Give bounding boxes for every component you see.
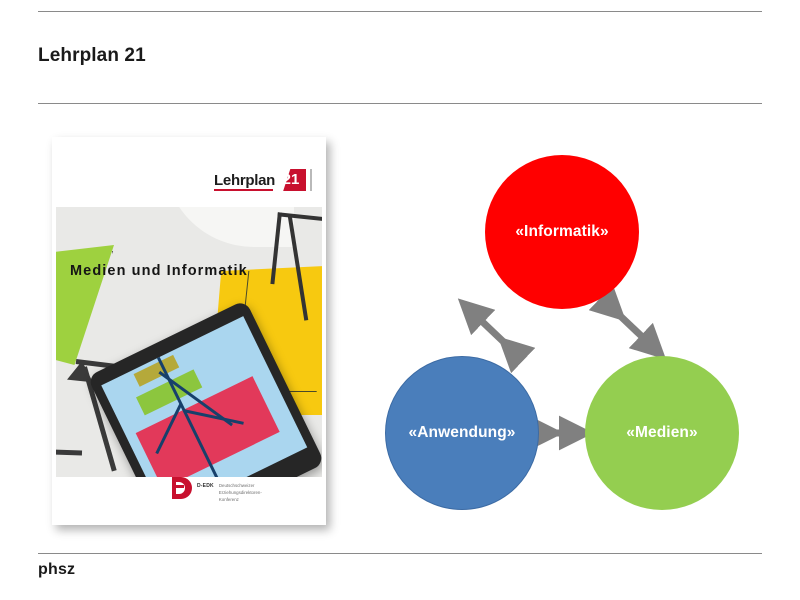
photo-arrow-foot (56, 450, 82, 456)
publisher-line-2: Erziehungsdirektoren- (219, 490, 262, 495)
top-divider (38, 11, 762, 12)
footer-brand: phsz (38, 561, 75, 579)
arrow-informatik-medien (614, 310, 654, 348)
footer-divider (38, 553, 762, 554)
arrow-anwendung-informatik (470, 310, 510, 348)
node-medien[interactable]: «Medien» (585, 356, 739, 510)
node-anwendung-label: «Anwendung» (408, 424, 515, 442)
logo-number-badge: 21 (276, 169, 306, 191)
publisher-abbreviation: D-EDK (197, 477, 214, 489)
logo-divider-bar (310, 169, 312, 191)
logo-wordmark: Lehrplan (214, 173, 275, 191)
publisher-line-1: Deutschschweizer (219, 483, 255, 488)
node-informatik[interactable]: «Informatik» (485, 155, 639, 309)
title-divider (38, 103, 762, 104)
cover-photograph (56, 207, 322, 477)
concept-diagram: «Informatik» «Anwendung» «Medien» (370, 140, 770, 540)
publisher-logo: D-EDK Deutschschweizer Erziehungsdirekto… (172, 477, 262, 503)
d-edk-mark-icon (172, 477, 192, 499)
node-anwendung[interactable]: «Anwendung» (385, 356, 539, 510)
lehrplan21-logo: Lehrplan 21 (52, 165, 312, 191)
publisher-name-block: Deutschschweizer Erziehungsdirektoren- K… (219, 477, 262, 503)
book-cover-image: Lehrplan 21 Medien und Informatik (52, 137, 326, 525)
page-title: Lehrplan 21 (38, 45, 146, 67)
node-informatik-label: «Informatik» (515, 223, 608, 241)
publisher-line-3: Konferenz (219, 497, 239, 502)
node-medien-label: «Medien» (626, 424, 697, 442)
cover-title-text: Medien und Informatik (70, 263, 248, 279)
